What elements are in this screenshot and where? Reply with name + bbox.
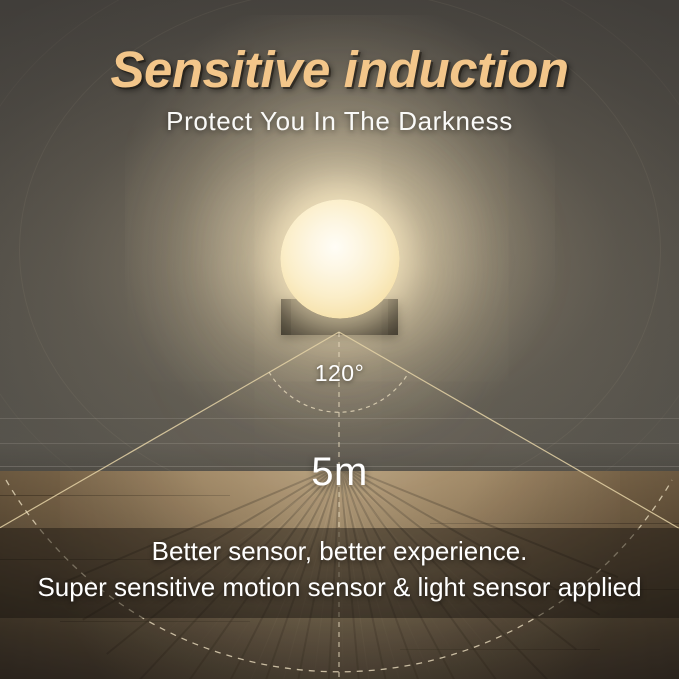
- floor-plank-joint: [430, 523, 679, 524]
- angle-label: 120°: [0, 360, 679, 387]
- lamp-mount-bracket-right: [388, 299, 398, 335]
- product-feature-image: 120° 5m Sensitive induction Protect You …: [0, 0, 679, 679]
- page-title: Sensitive induction: [0, 40, 679, 99]
- lamp-globe: [280, 200, 399, 319]
- page-subtitle: Protect You In The Darkness: [0, 106, 679, 137]
- floor-plank-joint: [400, 649, 600, 650]
- distance-label: 5m: [0, 450, 679, 495]
- caption-line-2: Super sensitive motion sensor & light se…: [0, 572, 679, 603]
- caption-line-1: Better sensor, better experience.: [0, 536, 679, 567]
- floor-plank-joint: [60, 621, 250, 622]
- floor-plank-joint: [0, 495, 230, 496]
- lamp-mount-bracket-left: [281, 299, 291, 335]
